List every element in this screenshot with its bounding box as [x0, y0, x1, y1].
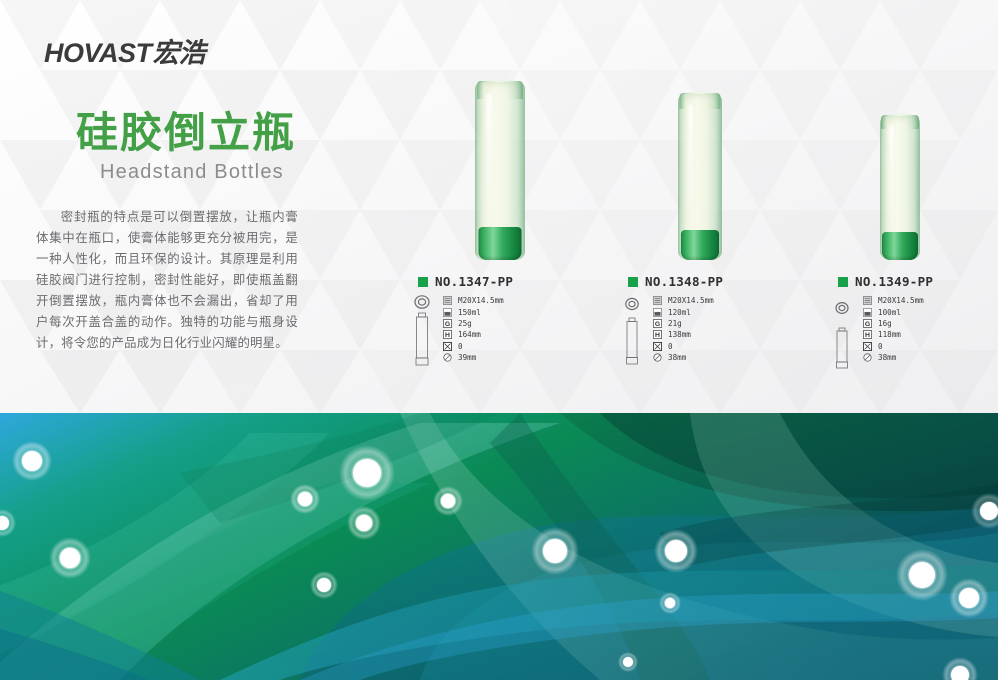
bottle-top-view-icon	[622, 297, 642, 311]
spec-value: 0	[878, 342, 883, 351]
diameter-icon	[653, 353, 662, 362]
product-specs: M20X14.5mm 120ml G	[620, 295, 714, 365]
bottle-top-view-icon	[411, 295, 433, 309]
no-label-icon	[443, 342, 452, 351]
bottle-cap	[882, 232, 918, 260]
spec-value: 120ml	[668, 308, 691, 317]
spec-row: M20X14.5mm	[863, 295, 924, 306]
product-specs: M20X14.5mm 100ml G	[830, 295, 924, 369]
spec-value: 164mm	[458, 330, 481, 339]
product-code-label: NO.1347-PP	[418, 274, 513, 289]
spec-value: 138mm	[668, 330, 691, 339]
spec-row: M20X14.5mm	[443, 295, 504, 306]
spec-row: H 164mm	[443, 329, 504, 340]
product-list: NO.1347-PP	[0, 0, 998, 414]
spec-row: G 25g	[443, 318, 504, 329]
spec-row: G 16g	[863, 318, 924, 329]
spec-value: M20X14.5mm	[668, 296, 714, 305]
no-label-icon	[653, 342, 662, 351]
bottle-side-view-icon	[411, 312, 433, 366]
product-photo	[800, 106, 998, 260]
bottle-cap	[479, 227, 522, 260]
bottle-render	[475, 82, 525, 260]
spec-row: 38mm	[653, 352, 714, 363]
spec-value: M20X14.5mm	[878, 296, 924, 305]
technical-drawing	[620, 295, 644, 365]
spec-rows: M20X14.5mm 150ml G	[443, 295, 504, 363]
spec-row: M20X14.5mm	[653, 295, 714, 306]
bottle-render	[880, 116, 920, 260]
spec-row: 120ml	[653, 306, 714, 317]
spec-value: 21g	[668, 319, 682, 328]
weight-g-icon: G	[863, 319, 872, 328]
spec-row: 39mm	[443, 352, 504, 363]
diameter-icon	[863, 353, 872, 362]
spec-rows: M20X14.5mm 100ml G	[863, 295, 924, 363]
decorative-banner	[0, 413, 998, 680]
product-code-label: NO.1348-PP	[628, 274, 723, 289]
bottle-render	[678, 94, 722, 260]
no-label-icon	[863, 342, 872, 351]
spec-value: M20X14.5mm	[458, 296, 504, 305]
spec-row: H 138mm	[653, 329, 714, 340]
spec-value: 100ml	[878, 308, 901, 317]
svg-text:G: G	[445, 321, 450, 328]
spec-row: 150ml	[443, 306, 504, 317]
svg-text:H: H	[865, 332, 870, 339]
spec-row: 0	[863, 341, 924, 352]
spec-row: 0	[653, 341, 714, 352]
bullet-square-icon	[628, 277, 638, 287]
capacity-icon	[443, 308, 452, 317]
spec-row: 100ml	[863, 306, 924, 317]
product-photo	[400, 72, 600, 260]
neck-thread-icon	[863, 296, 872, 305]
neck-thread-icon	[653, 296, 662, 305]
svg-text:G: G	[655, 321, 660, 328]
bottle-cap	[681, 230, 719, 260]
spec-value: 39mm	[458, 353, 476, 362]
product-code-label: NO.1349-PP	[838, 274, 933, 289]
spec-row: 38mm	[863, 352, 924, 363]
spec-value: 150ml	[458, 308, 481, 317]
capacity-icon	[653, 308, 662, 317]
bottle-side-view-icon	[622, 317, 642, 365]
spec-value: 25g	[458, 319, 472, 328]
spec-value: 0	[458, 342, 463, 351]
spec-row: 0	[443, 341, 504, 352]
product-code: NO.1349-PP	[855, 274, 933, 289]
bullet-square-icon	[838, 277, 848, 287]
bottle-top-view-icon	[832, 301, 852, 315]
spec-value: 0	[668, 342, 673, 351]
technical-drawing	[830, 295, 854, 369]
svg-text:H: H	[445, 332, 450, 339]
spec-value: 38mm	[668, 353, 686, 362]
spec-value: 38mm	[878, 353, 896, 362]
svg-text:H: H	[655, 332, 660, 339]
neck-thread-icon	[443, 296, 452, 305]
spec-rows: M20X14.5mm 120ml G	[653, 295, 714, 363]
top-section: HOVAST 宏浩 硅胶倒立瓶 Headstand Bottles 密封瓶的特点…	[0, 0, 998, 414]
spec-row: H 118mm	[863, 329, 924, 340]
product-code: NO.1348-PP	[645, 274, 723, 289]
capacity-icon	[863, 308, 872, 317]
technical-drawing	[410, 295, 434, 366]
height-h-icon: H	[863, 330, 872, 339]
bottle-side-view-icon	[832, 327, 852, 369]
spec-value: 16g	[878, 319, 892, 328]
product-photo	[600, 84, 800, 260]
height-h-icon: H	[653, 330, 662, 339]
product-specs: M20X14.5mm 150ml G	[410, 295, 504, 366]
bullet-square-icon	[418, 277, 428, 287]
spec-row: G 21g	[653, 318, 714, 329]
catalog-page: HOVAST 宏浩 硅胶倒立瓶 Headstand Bottles 密封瓶的特点…	[0, 0, 998, 680]
svg-text:G: G	[865, 321, 870, 328]
spec-value: 118mm	[878, 330, 901, 339]
weight-g-icon: G	[653, 319, 662, 328]
weight-g-icon: G	[443, 319, 452, 328]
diameter-icon	[443, 353, 452, 362]
height-h-icon: H	[443, 330, 452, 339]
product-code: NO.1347-PP	[435, 274, 513, 289]
